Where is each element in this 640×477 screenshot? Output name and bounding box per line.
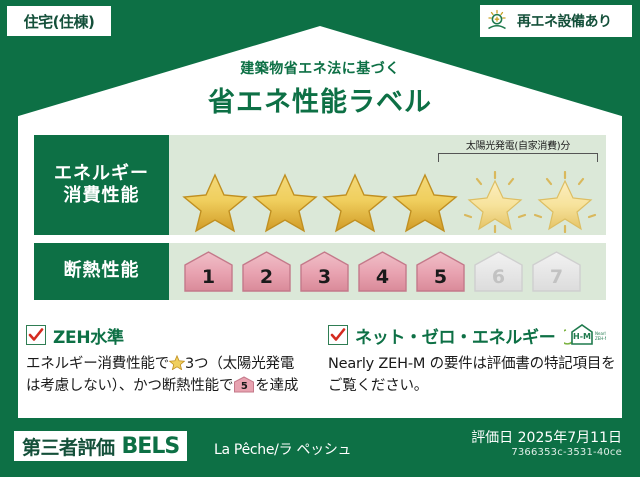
bels-jp-label: 第三者評価 <box>22 433 115 460</box>
energy-star-rating <box>169 171 606 233</box>
zeh-standard-header: ZEH水準 <box>26 322 314 348</box>
insulation-label-text: 断熱性能 <box>64 260 140 283</box>
insulation-level-7: 7 <box>529 249 584 294</box>
energy-rating-body: 太陽光発電(自家消費)分 <box>169 135 606 235</box>
zeh-m-logo-icon: H-M Nearly ZEH-M <box>564 322 606 348</box>
insulation-level-number: 5 <box>413 266 468 288</box>
zeh-standard-block: ZEH水準 エネルギー消費性能で3つ（太陽光発電は考慮しない）、かつ断熱性能で5… <box>26 322 314 397</box>
insulation-level-number: 1 <box>181 266 236 288</box>
star-solar <box>461 171 529 233</box>
insulation-rating-body: 1 2 3 <box>169 243 606 300</box>
bels-en-label: BELS <box>122 434 180 459</box>
insulation-level-number: 2 <box>239 266 294 288</box>
zeh-standard-title: ZEH水準 <box>53 323 124 348</box>
insulation-level-1: 1 <box>181 249 236 294</box>
zeh-net-zero-block: ネット・ゼロ・エネルギー H-M Nearly ZEH-M Nearly ZEH… <box>328 322 616 397</box>
zeh-desc-stars: 3つ（太陽光発電 <box>185 356 294 372</box>
property-name: La Pêche/ラ ペッシュ <box>214 439 351 459</box>
insulation-level-scale: 1 2 3 <box>181 249 584 294</box>
category-tag: 住宅(住棟) <box>7 6 111 36</box>
star-inline-icon <box>169 355 185 370</box>
zeh-net-zero-header: ネット・ゼロ・エネルギー H-M Nearly ZEH-M <box>328 322 616 348</box>
zeh-desc-part2: は考慮しない）、かつ断熱性能で <box>26 378 233 394</box>
solar-annotation-bracket <box>438 153 598 162</box>
insulation-level-number: 6 <box>471 266 526 288</box>
insulation-level-5: 5 <box>413 249 468 294</box>
insulation-level-number: 3 <box>297 266 352 288</box>
rating-rows: エネルギー 消費性能 太陽光発電(自家消費)分 <box>34 135 606 308</box>
svg-text:ZEH-M: ZEH-M <box>595 336 606 341</box>
energy-performance-label: エネルギー 消費性能 <box>34 135 169 235</box>
insulation-badge-inline-icon: 5 <box>233 376 255 393</box>
insulation-level-number: 4 <box>355 266 410 288</box>
energy-label-line1: エネルギー <box>54 163 149 186</box>
label-title: 省エネ性能ラベル <box>0 80 640 119</box>
insulation-level-6: 6 <box>471 249 526 294</box>
star-filled <box>321 171 389 233</box>
inline-badge-number: 5 <box>233 379 255 394</box>
label-footer: 第三者評価 BELS La Pêche/ラ ペッシュ 評価日 2025年7月11… <box>0 419 640 477</box>
solar-annotation: 太陽光発電(自家消費)分 <box>438 137 598 162</box>
insulation-performance-row: 断熱性能 <box>34 243 606 300</box>
evaluation-id: 7366353c-3531-40ce <box>511 447 622 458</box>
star-filled <box>391 171 459 233</box>
renewable-badge-label: 再エネ設備あり <box>517 11 612 31</box>
energy-performance-label: 住宅(住棟) 再エネ設備あり 建築物省エネ法に基づく 省エネ性能ラベル <box>0 0 640 477</box>
insulation-performance-label: 断熱性能 <box>34 243 169 300</box>
zeh-sections: ZEH水準 エネルギー消費性能で3つ（太陽光発電は考慮しない）、かつ断熱性能で5… <box>26 322 616 397</box>
checkbox-checked-icon <box>328 325 348 345</box>
energy-label-line2: 消費性能 <box>64 185 140 208</box>
category-tag-label: 住宅(住棟) <box>24 11 95 32</box>
svg-text:H-M: H-M <box>573 332 591 341</box>
insulation-level-2: 2 <box>239 249 294 294</box>
evaluation-date: 評価日 2025年7月11日 <box>471 427 622 447</box>
renewable-energy-badge: 再エネ設備あり <box>480 5 632 37</box>
star-filled <box>181 171 249 233</box>
bels-certification-badge: 第三者評価 BELS <box>14 431 187 461</box>
sun-icon <box>486 9 512 33</box>
zeh-net-zero-title: ネット・ゼロ・エネルギー <box>355 323 555 348</box>
label-subtitle: 建築物省エネ法に基づく <box>0 58 640 78</box>
insulation-level-3: 3 <box>297 249 352 294</box>
zeh-standard-description: エネルギー消費性能で3つ（太陽光発電は考慮しない）、かつ断熱性能で5を達成 <box>26 353 314 397</box>
zeh-desc-part1: エネルギー消費性能で <box>26 356 169 372</box>
checkbox-checked-icon <box>26 325 46 345</box>
star-filled <box>251 171 319 233</box>
insulation-level-4: 4 <box>355 249 410 294</box>
energy-performance-row: エネルギー 消費性能 太陽光発電(自家消費)分 <box>34 135 606 235</box>
zeh-net-zero-description: Nearly ZEH-M の要件は評価書の特記項目をご覧ください。 <box>328 353 616 397</box>
insulation-level-number: 7 <box>529 266 584 288</box>
solar-annotation-label: 太陽光発電(自家消費)分 <box>438 137 598 152</box>
star-solar <box>531 171 599 233</box>
zeh-desc-part3: を達成 <box>255 378 298 394</box>
